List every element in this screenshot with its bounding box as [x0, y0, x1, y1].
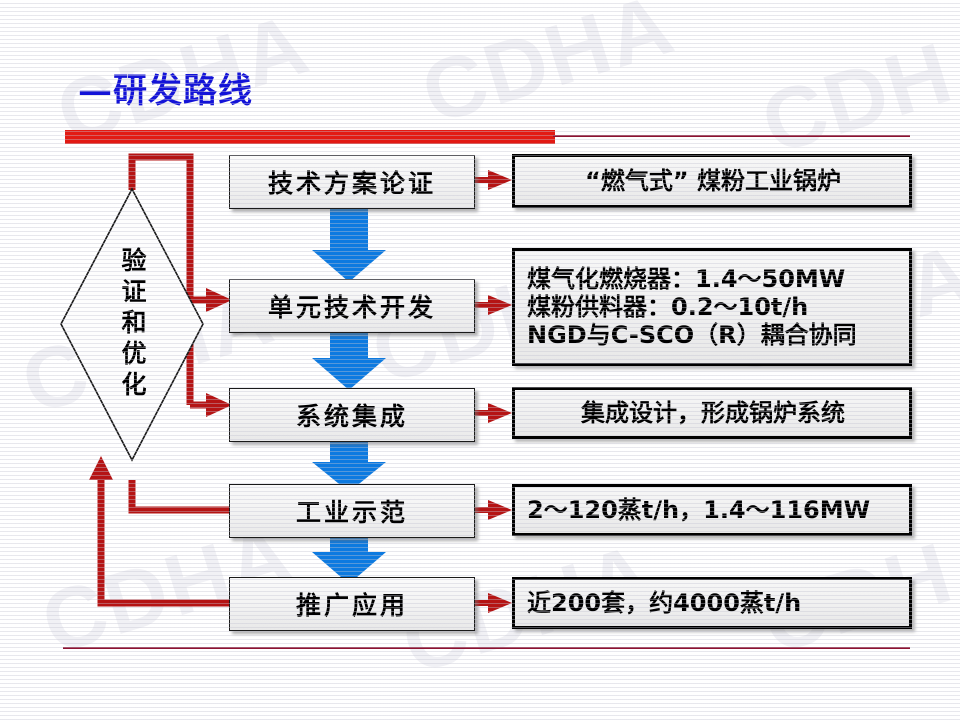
result-line: “燃气式” 煤粉工业锅炉: [585, 167, 841, 195]
feedback-wire-from-step5: [101, 480, 229, 603]
result-line: 集成设计，形成锅炉系统: [581, 399, 845, 427]
process-box-step-4[interactable]: 工业示范: [229, 484, 475, 538]
process-label: 系统集成: [296, 397, 408, 433]
decision-diamond[interactable]: 验证和优化: [58, 186, 206, 463]
process-box-step-2[interactable]: 单元技术开发: [229, 279, 475, 333]
result-box-5[interactable]: 近200套，约4000蒸t/h: [512, 577, 912, 629]
arrow-head-right: [488, 403, 512, 423]
result-line: 煤粉供料器：0.2～10t/h: [527, 293, 808, 321]
result-line: NGD与C-SCO（R）耦合协同: [527, 321, 857, 349]
arrow-head-right: [488, 295, 512, 315]
process-label: 推广应用: [296, 586, 408, 622]
result-line: 煤气化燃烧器：1.4～50MW: [527, 265, 845, 293]
result-line: 近200套，约4000蒸t/h: [527, 589, 801, 617]
process-label: 技术方案论证: [268, 164, 436, 200]
result-line: 2～120蒸t/h，1.4～116MW: [527, 496, 870, 524]
process-label: 工业示范: [296, 493, 408, 529]
arrow-head-right: [488, 500, 512, 520]
arrow-head-right: [488, 593, 512, 613]
process-box-step-5[interactable]: 推广应用: [229, 577, 475, 631]
process-label: 单元技术开发: [268, 288, 436, 324]
result-box-2[interactable]: 煤气化燃烧器：1.4～50MW 煤粉供料器：0.2～10t/h NGD与C-SC…: [512, 248, 912, 366]
result-box-3[interactable]: 集成设计，形成锅炉系统: [512, 387, 912, 439]
arrow-head-right: [488, 170, 512, 190]
decision-label: 验证和优化: [58, 186, 206, 463]
result-box-4[interactable]: 2～120蒸t/h，1.4～116MW: [512, 484, 912, 536]
result-box-1[interactable]: “燃气式” 煤粉工业锅炉: [512, 154, 912, 208]
process-box-step-1[interactable]: 技术方案论证: [229, 155, 475, 209]
feedback-wire-from-step4: [132, 480, 229, 510]
process-box-step-3[interactable]: 系统集成: [229, 388, 475, 442]
slide-canvas: —研发路线: [0, 0, 960, 720]
